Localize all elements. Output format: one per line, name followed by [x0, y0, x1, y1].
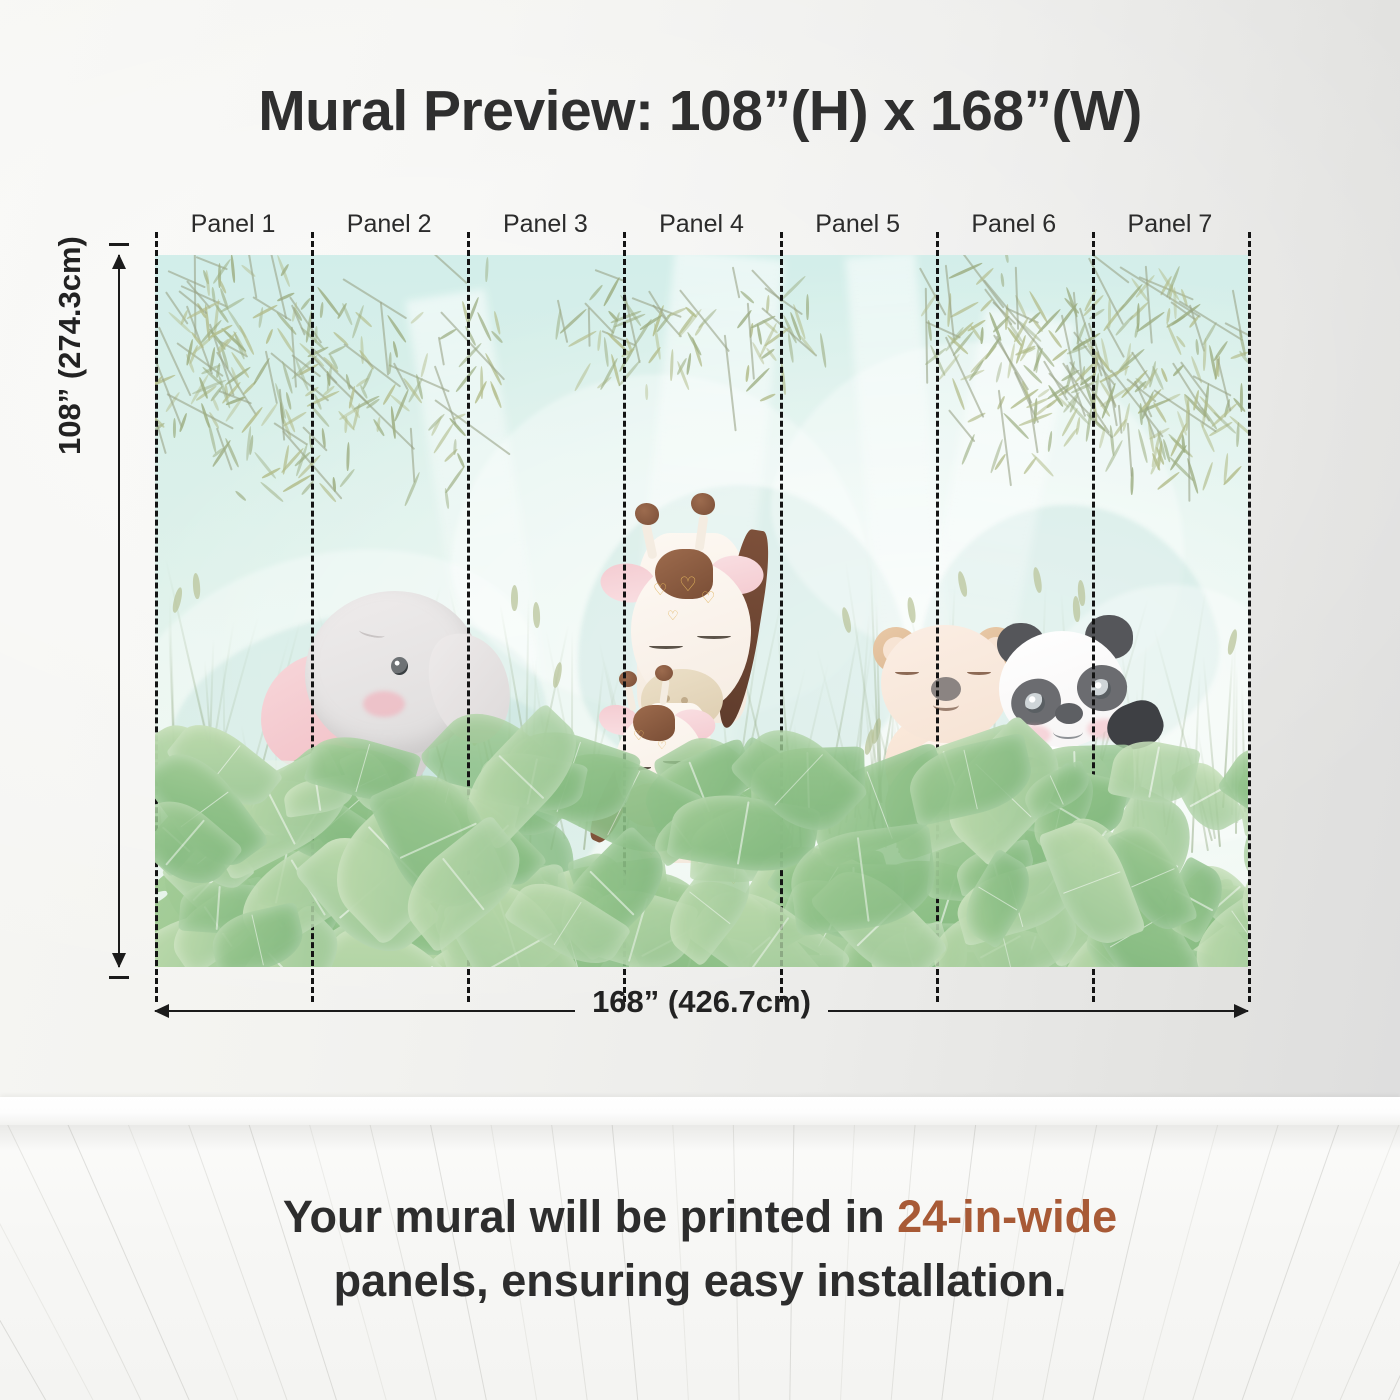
- panel-label-7: Panel 7: [1092, 210, 1248, 239]
- tropical-leaf: [1184, 904, 1248, 967]
- tropical-leaf: [217, 903, 356, 967]
- monstera-slit: [165, 855, 208, 882]
- willow-foliage-right: [895, 255, 1248, 515]
- panel-divider-line: [155, 232, 158, 1002]
- tropical-leaf: [1055, 937, 1158, 967]
- tropical-leaf: [155, 897, 292, 967]
- grass-blade: [155, 710, 190, 855]
- willow-leaf: [262, 467, 282, 479]
- panel-divider-line: [1092, 232, 1095, 1002]
- tropical-leaf: [865, 920, 953, 967]
- willow-leaf: [259, 481, 283, 503]
- willow-leaf: [328, 345, 347, 356]
- willow-branch: [342, 278, 407, 319]
- willow-leaf: [386, 314, 407, 343]
- width-dimension-label-text: 168” (426.7cm): [578, 984, 825, 1019]
- willow-leaf: [490, 330, 503, 343]
- willow-leaf: [1166, 308, 1171, 323]
- tropical-leaf: [1233, 797, 1248, 886]
- grass-blade: [217, 746, 232, 827]
- panel-label-4: Panel 4: [624, 210, 780, 239]
- panel-label-5: Panel 5: [780, 210, 936, 239]
- willow-branch: [1106, 326, 1125, 358]
- monstera-slit: [233, 923, 287, 955]
- grass-blade: [168, 593, 178, 829]
- willow-leaf: [420, 352, 429, 377]
- panel-label-3: Panel 3: [467, 210, 623, 239]
- willow-branch: [1217, 359, 1231, 411]
- willow-leaf: [1137, 428, 1148, 462]
- grass-seed-head: [192, 572, 201, 598]
- tropical-leaf: [1142, 922, 1248, 967]
- arrow-down-icon: [112, 953, 126, 968]
- willow-leaf: [392, 341, 399, 358]
- grass-seed-head: [171, 586, 184, 613]
- willow-leaf: [346, 442, 350, 471]
- caption-line-2: panels, ensuring easy installation.: [0, 1249, 1400, 1313]
- grass-blade: [168, 620, 177, 808]
- page-title: Mural Preview: 108”(H) x 168”(W): [0, 78, 1400, 144]
- willow-branch: [1127, 423, 1133, 477]
- grass-blade: [1222, 650, 1234, 808]
- tropical-leaf: [242, 916, 397, 967]
- tropical-leaf: [155, 785, 244, 899]
- willow-branch: [998, 390, 1012, 487]
- tropical-leaf: [634, 906, 709, 952]
- tropical-leaf: [843, 923, 968, 967]
- willow-leaf: [980, 298, 994, 312]
- tropical-leaf: [967, 923, 1107, 967]
- willow-branch: [410, 427, 415, 482]
- willow-leaf: [1201, 462, 1214, 492]
- willow-leaf: [1052, 348, 1069, 362]
- grass-blade: [571, 631, 573, 821]
- panel-divider-line: [780, 232, 783, 1002]
- grass-blade: [204, 660, 217, 810]
- grass-blade: [187, 655, 230, 829]
- willow-leaf: [980, 327, 984, 344]
- grass-blade: [1241, 684, 1246, 812]
- willow-branch: [985, 288, 1014, 325]
- tropical-leaf: [636, 918, 800, 967]
- grass-blade: [218, 720, 230, 807]
- grass-blade: [241, 725, 260, 820]
- tropical-leaf: [932, 921, 1027, 967]
- tropical-leaf: [979, 916, 1128, 967]
- tropical-leaf: [716, 955, 855, 967]
- willow-leaf: [320, 302, 325, 318]
- tropical-leaf: [458, 932, 569, 967]
- tropical-leaf: [206, 881, 316, 953]
- willow-leaf: [1235, 422, 1239, 447]
- grass-blade: [199, 617, 259, 825]
- grass-blade: [1231, 624, 1237, 815]
- grass-blade: [195, 621, 235, 854]
- grass-blade: [206, 639, 215, 840]
- height-dimension: [118, 255, 120, 967]
- grass-seed-head: [956, 571, 968, 598]
- willow-leaf: [995, 361, 1003, 382]
- willow-leaf: [1031, 452, 1055, 477]
- height-dimension-label: 108” (274.3cm): [52, 236, 88, 455]
- willow-leaf: [1160, 367, 1168, 382]
- mural-artwork: ♡ ♡ ♡ ♡ ♡ ♡ ♡ ♡ ♡ ♡ ♡ ♡: [155, 255, 1248, 967]
- willow-leaf: [555, 309, 562, 341]
- willow-leaf: [285, 392, 292, 411]
- tropical-leaf: [192, 950, 317, 967]
- panel-divider-line: [936, 232, 939, 1002]
- monstera-slit: [210, 874, 264, 906]
- tropical-leaf: [492, 901, 666, 967]
- willow-branch: [249, 255, 258, 299]
- tropical-leaf: [155, 738, 270, 880]
- willow-leaf: [1002, 412, 1029, 440]
- tropical-leaf: [179, 880, 259, 935]
- willow-branch: [168, 270, 206, 288]
- tropical-leaf: [1052, 915, 1219, 967]
- caption-line-1-before: Your mural will be printed in: [283, 1191, 897, 1242]
- panda: [975, 607, 1215, 897]
- tropical-leaf: [1193, 918, 1248, 967]
- tropical-leaf: [1035, 887, 1114, 967]
- tropical-leaf: [1239, 920, 1248, 967]
- tropical-leaf: [1216, 732, 1248, 845]
- panel-divider-line: [311, 232, 314, 1002]
- grass-seed-head: [1077, 580, 1086, 607]
- willow-leaf: [393, 388, 409, 422]
- tropical-leaf: [168, 805, 257, 899]
- tropical-leaf: [879, 924, 1090, 967]
- tropical-leaf: [986, 920, 1073, 967]
- grass-seed-head: [1032, 566, 1043, 593]
- width-dimension-label: 168” (426.7cm): [155, 984, 1248, 1020]
- willow-leaf: [339, 468, 355, 487]
- tropical-leaf: [1226, 823, 1248, 953]
- willow-leaf: [1000, 273, 1005, 288]
- willow-leaf: [388, 352, 392, 375]
- monstera-slit: [254, 882, 311, 912]
- willow-leaf: [1075, 416, 1081, 435]
- tropical-leaf: [466, 915, 615, 967]
- willow-leaf: [961, 434, 976, 465]
- floor-shadow: [0, 1125, 1400, 1151]
- willow-leaf: [234, 490, 247, 502]
- willow-leaf: [1157, 470, 1181, 490]
- tropical-leaf: [1036, 887, 1192, 967]
- width-dimension: 168” (426.7cm): [155, 1010, 1248, 1012]
- willow-leaf: [205, 270, 211, 296]
- willow-leaf: [952, 378, 966, 411]
- height-tick-bottom: [109, 976, 129, 979]
- willow-leaf: [1195, 339, 1199, 355]
- baseboard: [0, 1097, 1400, 1125]
- arrow-up-icon: [112, 254, 126, 269]
- willow-leaf: [484, 257, 488, 282]
- panel-label-2: Panel 2: [311, 210, 467, 239]
- tropical-leaf: [155, 802, 213, 877]
- grass-blade: [164, 558, 222, 800]
- willow-leaf: [409, 310, 424, 324]
- willow-leaf: [172, 418, 175, 438]
- monstera-slit: [389, 928, 449, 949]
- monstera-slit: [221, 905, 264, 938]
- tropical-leaf: [155, 711, 255, 850]
- willow-leaf: [477, 312, 493, 342]
- willow-leaf: [300, 297, 312, 311]
- height-tick-top: [109, 243, 129, 246]
- grass-seed-head: [1226, 629, 1239, 656]
- caption-line-1: Your mural will be printed in 24-in-wide: [0, 1185, 1400, 1249]
- panel-label-6: Panel 6: [936, 210, 1092, 239]
- caption-highlight: 24-in-wide: [897, 1191, 1117, 1242]
- willow-leaf: [968, 412, 987, 424]
- willow-leaf: [332, 476, 337, 491]
- grass-blade: [1235, 664, 1238, 834]
- height-dimension-line: [118, 255, 120, 967]
- willow-leaf: [1108, 298, 1111, 328]
- monstera-slit: [183, 816, 226, 843]
- willow-branch: [1178, 300, 1243, 341]
- tropical-leaf: [781, 931, 915, 967]
- caption: Your mural will be printed in 24-in-wide…: [0, 1185, 1400, 1313]
- grass-blade: [1236, 597, 1248, 823]
- willow-foliage-left: [155, 255, 465, 529]
- willow-leaf: [1004, 255, 1009, 263]
- elephant: [265, 585, 565, 885]
- tropical-leaf: [161, 876, 275, 967]
- willow-leaf: [1212, 340, 1228, 362]
- willow-branch: [435, 365, 457, 424]
- willow-leaf: [444, 466, 465, 495]
- panel-label-1: Panel 1: [155, 210, 311, 239]
- tropical-leaf: [845, 901, 1016, 967]
- willow-leaf: [1022, 347, 1037, 355]
- monstera-slit: [384, 929, 439, 955]
- tropical-leaf: [414, 915, 550, 967]
- panel-divider-line: [1248, 232, 1251, 1002]
- tropical-leaf: [161, 840, 253, 932]
- tropical-leaf: [301, 901, 504, 967]
- tropical-leaf: [1230, 727, 1248, 840]
- tropical-leaf: [925, 888, 1085, 967]
- tropical-leaf: [270, 879, 360, 967]
- willow-leaf: [439, 327, 458, 340]
- tropical-leaf: [622, 915, 753, 967]
- willow-leaf: [390, 406, 397, 439]
- willow-leaf: [341, 302, 353, 325]
- monstera-slit: [222, 906, 265, 933]
- willow-leaf: [382, 383, 397, 406]
- grass-seed-head: [213, 731, 223, 758]
- monstera-slit: [155, 937, 191, 967]
- monstera-slit: [296, 883, 339, 916]
- willow-branch: [439, 336, 446, 365]
- tropical-leaf: [959, 900, 1042, 967]
- willow-leaf: [211, 397, 220, 412]
- willow-leaf: [1114, 314, 1134, 336]
- willow-leaf: [950, 300, 979, 318]
- grass-blade: [223, 657, 227, 825]
- willow-leaf: [1047, 431, 1053, 453]
- mural-preview-screenshot: Mural Preview: 108”(H) x 168”(W): [0, 0, 1400, 1400]
- willow-branch: [984, 279, 1043, 350]
- willow-leaf: [266, 328, 275, 344]
- panel-divider-line: [623, 232, 626, 1002]
- baby-giraffe: ♡ ♡ ♡: [575, 555, 785, 895]
- willow-branch: [429, 255, 467, 284]
- monstera-slit: [197, 868, 240, 901]
- panel-divider-line: [467, 232, 470, 1002]
- tropical-leaf: [207, 901, 309, 967]
